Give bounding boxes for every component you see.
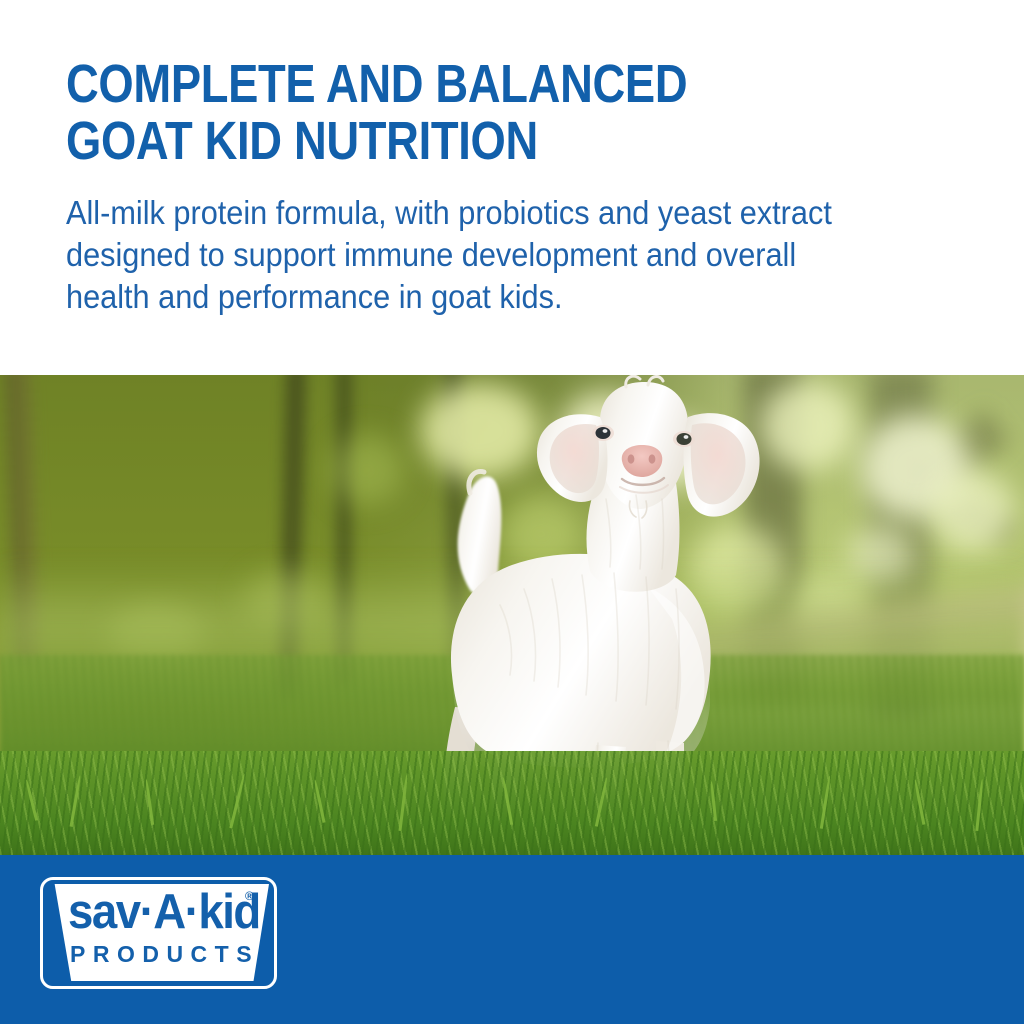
marketing-ad-card: COMPLETE AND BALANCED GOAT KID NUTRITION… [0,0,1024,1024]
subcopy-line-2: designed to support immune development a… [66,234,896,276]
grass-blade [975,779,983,831]
grass-blade [70,775,82,827]
grass-blade [710,781,717,821]
headline-line-2: GOAT KID NUTRITION [66,113,815,170]
sav-a-kid-logo[interactable]: sav·A·kid ® PRODUCTS [40,877,277,989]
grass-blade [502,777,513,825]
subcopy-line-3: health and performance in goat kids. [66,276,896,318]
subcopy: All-milk protein formula, with probiotic… [66,192,896,318]
grass-blade [914,779,926,825]
logo-wordmark: sav·A·kid [68,886,245,938]
text-block: COMPLETE AND BALANCED GOAT KID NUTRITION… [0,0,1024,375]
footer-bar: sav·A·kid ® PRODUCTS [0,855,1024,1024]
page-title: COMPLETE AND BALANCED GOAT KID NUTRITION [66,56,815,170]
registered-trademark-icon: ® [245,889,254,903]
grass-foreground [0,751,1024,855]
headline-line-1: COMPLETE AND BALANCED [66,56,815,113]
hero-photo [0,375,1024,855]
grass-blade [229,773,245,828]
grass-blade [145,779,154,825]
logo-tagline: PRODUCTS [70,941,240,967]
grass-blade [398,773,408,831]
grass-blade [820,775,831,829]
subcopy-line-1: All-milk protein formula, with probiotic… [66,192,896,234]
grass-blade [595,777,608,827]
grass-blade [25,779,38,820]
grass-blade [313,779,325,823]
